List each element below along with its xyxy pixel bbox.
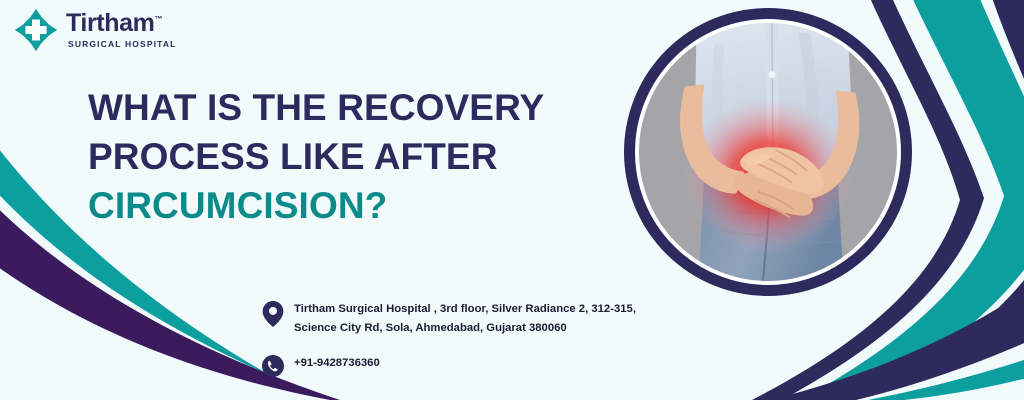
brand-subtitle: SURGICAL HOSPITAL [68, 40, 177, 49]
contact-info: Tirtham Surgical Hospital , 3rd floor, S… [262, 300, 662, 377]
headline-line-1: WHAT IS THE RECOVERY [88, 84, 628, 133]
circular-photo-frame [624, 8, 912, 296]
page-title: WHAT IS THE RECOVERY PROCESS LIKE AFTER … [88, 84, 628, 230]
phone-number[interactable]: +91-9428736360 [294, 353, 380, 371]
address-row: Tirtham Surgical Hospital , 3rd floor, S… [262, 300, 662, 339]
phone-icon [262, 355, 284, 377]
photo-outer-ring [624, 8, 912, 296]
headline-line-3: CIRCUMCISION? [88, 182, 628, 231]
trademark-symbol: ™ [154, 15, 162, 24]
brand-name: Tirtham™ [66, 11, 162, 36]
phone-row[interactable]: +91-9428736360 [262, 353, 662, 377]
map-pin-icon [262, 301, 284, 327]
headline-line-2: PROCESS LIKE AFTER [88, 133, 628, 182]
brand-name-text: Tirtham [66, 9, 154, 37]
address-line-1: Tirtham Surgical Hospital , 3rd floor, S… [294, 300, 636, 319]
address-text: Tirtham Surgical Hospital , 3rd floor, S… [294, 300, 636, 339]
promotional-banner: Tirtham™ SURGICAL HOSPITAL WHAT IS THE R… [0, 0, 1024, 400]
medical-cross-diamond-icon [14, 8, 58, 52]
address-line-2: Science City Rd, Sola, Ahmedabad, Gujara… [294, 319, 636, 338]
brand-logo[interactable]: Tirtham™ SURGICAL HOSPITAL [14, 8, 177, 52]
brand-wordmark: Tirtham™ SURGICAL HOSPITAL [66, 11, 177, 49]
